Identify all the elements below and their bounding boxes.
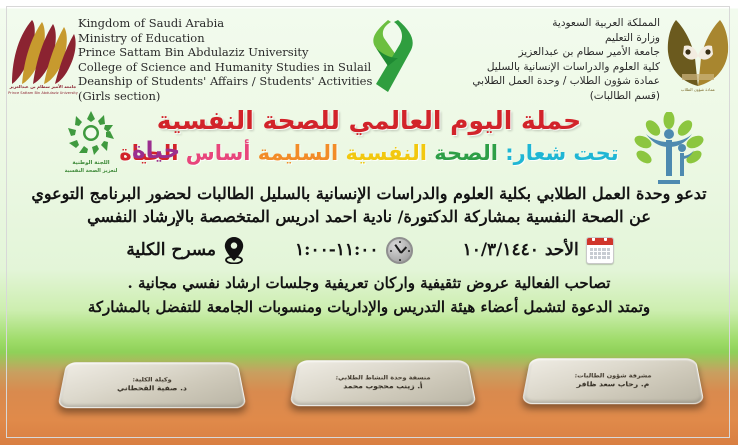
signature-title: وكيلة الكلية: xyxy=(132,376,172,384)
deanship-logo-caption: عمادة شؤون الطلاب xyxy=(662,87,734,92)
signature-name: م. رحاب سعد ظافر xyxy=(576,380,649,389)
prince-sattam-university-logo: جامعة الأمير سطام بن عبدالعزيز Prince Sa… xyxy=(6,14,80,106)
event-info-row: الأحد ١٠/٣/١٤٤٠ ١١:٠٠-١:٠٠ مسر xyxy=(20,232,720,268)
header-english: Kingdom of Saudi Arabia Ministry of Educ… xyxy=(78,16,378,103)
national-committee-mental-health-logo: اللجنة الوطنية لتعزيز الصحة النفسية xyxy=(52,110,130,178)
header-en-line: College of Science and Humanity Studies … xyxy=(78,60,378,75)
national-committee-line-1: اللجنة الوطنية xyxy=(52,160,130,166)
life-tree-logo xyxy=(628,112,710,184)
slogan-prefix: تحت شعار: xyxy=(505,141,618,165)
header-en-line: Ministry of Education xyxy=(78,31,378,46)
event-location: مسرح الكلية xyxy=(126,236,245,264)
header-en-line: Kingdom of Saudi Arabia xyxy=(78,16,378,31)
slogan-word: أساس xyxy=(186,141,251,165)
event-time-text: ١١:٠٠-١:٠٠ xyxy=(295,240,379,260)
event-date-text: الأحد ١٠/٣/١٤٤٠ xyxy=(463,240,579,260)
event-note-line-1: تصاحب الفعالية عروض تثقيفية واركان تعريف… xyxy=(30,274,708,292)
header-ar-line: (قسم الطالبات) xyxy=(370,89,660,104)
signature-plaque: وكيلة الكلية: د. صفية القحطاني xyxy=(57,362,247,408)
calendar-icon xyxy=(586,237,614,264)
hayah-wordmark: حياة xyxy=(132,138,180,164)
deanship-students-affairs-logo: عمادة شؤون الطلاب xyxy=(662,12,734,104)
event-time: ١١:٠٠-١:٠٠ xyxy=(295,237,413,264)
header-ar-line: جامعة الأمير سطام بن عبدالعزيز xyxy=(370,45,660,60)
signature-plaque: منسقة وحدة النشاط الطلابي: أ. زينب محجوب… xyxy=(289,360,477,406)
national-committee-line-2: لتعزيز الصحة النفسية xyxy=(52,168,130,174)
event-location-text: مسرح الكلية xyxy=(126,240,216,260)
header-ar-line: المملكة العربية السعودية xyxy=(370,16,660,31)
signature-plaque: مشرفة شؤون الطالبات: م. رحاب سعد ظافر xyxy=(521,358,704,404)
event-poster: جامعة الأمير سطام بن عبدالعزيز Prince Sa… xyxy=(0,0,738,445)
location-pin-icon xyxy=(223,236,245,264)
header-ar-line: وزارة التعليم xyxy=(370,31,660,46)
university-logo-caption-en: Prince Sattam Bin Abdulaziz University xyxy=(6,91,80,96)
slogan-word: النفسية xyxy=(345,141,426,165)
header-ar-line: كلية العلوم والدراسات الإنسانية بالسليل xyxy=(370,60,660,75)
header-en-line: Prince Sattam Bin Abdulaziz University xyxy=(78,45,378,60)
event-description: تدعو وحدة العمل الطلابي بكلية العلوم وال… xyxy=(30,182,708,228)
clock-icon xyxy=(386,237,413,264)
signature-name: أ. زينب محجوب محمد xyxy=(343,382,423,391)
university-logo-caption-ar: جامعة الأمير سطام بن عبدالعزيز xyxy=(6,84,80,89)
header-ar-line: عمادة شؤون الطلاب / وحدة العمل الطلابي xyxy=(370,74,660,89)
header-en-line: Deanship of Students' Affairs / Students… xyxy=(78,74,378,89)
signature-title: مشرفة شؤون الطالبات: xyxy=(574,372,652,380)
header-en-line: (Girls section) xyxy=(78,89,378,104)
signature-title: منسقة وحدة النشاط الطلابي: xyxy=(335,374,431,382)
slogan-word: الصحة xyxy=(434,141,498,165)
header-arabic: المملكة العربية السعودية وزارة التعليم ج… xyxy=(370,16,660,103)
slogan-word: السليمة xyxy=(258,141,338,165)
event-date: الأحد ١٠/٣/١٤٤٠ xyxy=(463,237,614,264)
signature-name: د. صفية القحطاني xyxy=(117,384,187,393)
event-note-line-2: وتمتد الدعوة لتشمل أعضاء هيئة التدريس وا… xyxy=(30,298,708,316)
